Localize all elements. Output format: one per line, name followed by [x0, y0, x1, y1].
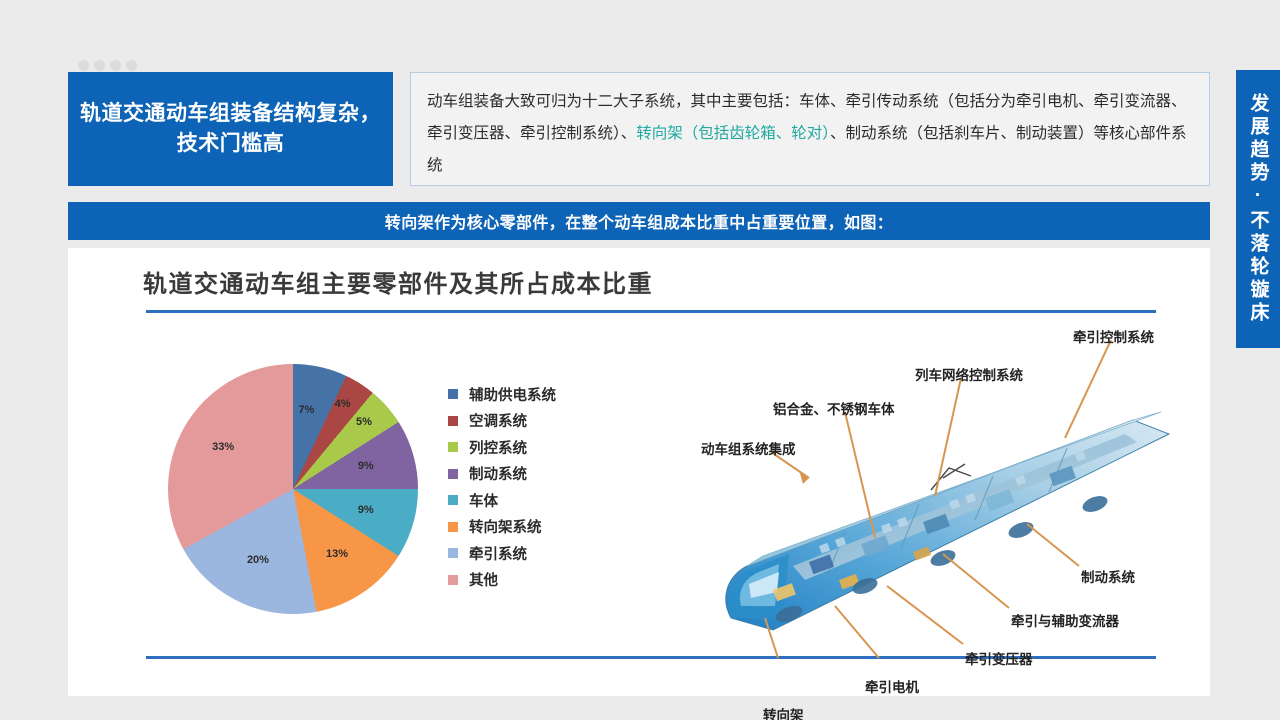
pie-legend: 辅助供电系统空调系统列控系统制动系统车体转向架系统牵引系统其他: [448, 381, 556, 593]
legend-label: 其他: [469, 569, 498, 590]
description-highlight: 转向架（包括齿轮箱、轮对）: [636, 125, 830, 142]
train-part-label: 列车网络控制系统: [915, 364, 1023, 384]
slide-root: 轨道交通动车组装备结构复杂，技术门槛高 动车组装备大致可归为十二大子系统，其中主…: [0, 0, 1280, 720]
legend-item[interactable]: 其他: [448, 567, 556, 594]
legend-label: 制动系统: [469, 463, 527, 484]
legend-label: 辅助供电系统: [469, 384, 556, 405]
emphasis-banner-text: 转向架作为核心零部件，在整个动车组成本比重中占重要位置，如图：: [385, 209, 893, 233]
chart-card-title: 轨道交通动车组主要零部件及其所占成本比重: [143, 264, 653, 299]
pie-slice-label: 9%: [358, 504, 374, 516]
divider-top: [146, 310, 1156, 313]
arrow-head: [799, 470, 809, 484]
legend-item[interactable]: 列控系统: [448, 434, 556, 461]
legend-item[interactable]: 空调系统: [448, 408, 556, 435]
legend-swatch-icon: [448, 522, 458, 532]
pie-chart: [168, 364, 418, 614]
pie-slice-label: 33%: [212, 441, 234, 453]
pie-slice-label: 7%: [298, 404, 314, 416]
emphasis-banner: 转向架作为核心零部件，在整个动车组成本比重中占重要位置，如图：: [68, 202, 1210, 240]
legend-label: 列控系统: [469, 437, 527, 458]
decorative-dots: [78, 60, 137, 71]
dot-icon: [126, 60, 137, 71]
legend-item[interactable]: 转向架系统: [448, 514, 556, 541]
legend-label: 车体: [469, 490, 498, 511]
legend-item[interactable]: 牵引系统: [448, 540, 556, 567]
legend-item[interactable]: 辅助供电系统: [448, 381, 556, 408]
dot-icon: [94, 60, 105, 71]
pie-slice-label: 20%: [247, 554, 269, 566]
train-cutaway-illustration: [613, 318, 1173, 658]
side-tab-text: 发展趋势·不落轮镟床: [1245, 93, 1272, 325]
train-part-label: 转向架: [763, 704, 804, 720]
train-part-label: 牵引电机: [865, 676, 919, 696]
legend-label: 牵引系统: [469, 543, 527, 564]
legend-label: 空调系统: [469, 410, 527, 431]
legend-swatch-icon: [448, 389, 458, 399]
legend-swatch-icon: [448, 548, 458, 558]
legend-swatch-icon: [448, 495, 458, 505]
legend-label: 转向架系统: [469, 516, 542, 537]
dot-icon: [78, 60, 89, 71]
pie-chart-region: 7%4%5%9%9%13%20%33% 辅助供电系统空调系统列控系统制动系统车体…: [156, 326, 596, 646]
pie-slice-label: 9%: [358, 460, 374, 472]
train-part-label: 牵引变压器: [965, 648, 1033, 668]
train-illustration-region: 牵引控制系统列车网络控制系统铝合金、不锈钢车体动车组系统集成制动系统牵引与辅助变…: [613, 318, 1173, 658]
side-tab[interactable]: 发展趋势·不落轮镟床: [1236, 70, 1280, 348]
legend-swatch-icon: [448, 442, 458, 452]
train-part-label: 铝合金、不锈钢车体: [773, 398, 895, 418]
legend-item[interactable]: 制动系统: [448, 461, 556, 488]
dot-icon: [110, 60, 121, 71]
slide-title-box: 轨道交通动车组装备结构复杂，技术门槛高: [68, 72, 393, 186]
chart-card: 轨道交通动车组主要零部件及其所占成本比重 7%4%5%9%9%13%20%33%…: [68, 248, 1210, 696]
pie-slice-label: 5%: [356, 416, 372, 428]
pie-slice-label: 4%: [335, 398, 351, 410]
legend-swatch-icon: [448, 575, 458, 585]
pie-slice-label: 13%: [326, 548, 348, 560]
train-part-label: 牵引与辅助变流器: [1011, 610, 1119, 630]
slide-title-text: 轨道交通动车组装备结构复杂，技术门槛高: [80, 99, 381, 160]
description-panel: 动车组装备大致可归为十二大子系统，其中主要包括：车体、牵引传动系统（包括分为牵引…: [410, 72, 1210, 186]
train-part-label: 牵引控制系统: [1073, 326, 1154, 346]
train-part-label: 制动系统: [1081, 566, 1135, 586]
legend-swatch-icon: [448, 416, 458, 426]
train-part-label: 动车组系统集成: [701, 438, 796, 458]
legend-swatch-icon: [448, 469, 458, 479]
legend-item[interactable]: 车体: [448, 487, 556, 514]
